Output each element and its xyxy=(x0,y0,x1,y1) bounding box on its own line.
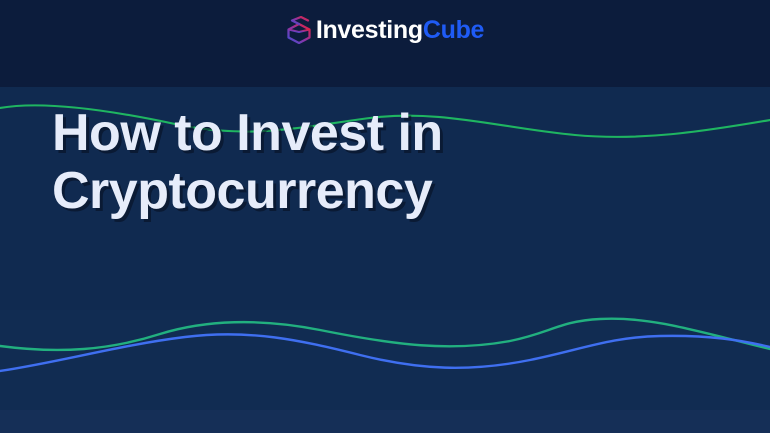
background-band-lower-mid xyxy=(0,310,770,410)
background-band-bottom xyxy=(0,410,770,433)
site-logo-wordmark: InvestingCube xyxy=(316,18,484,43)
logo-word-investing: Investing xyxy=(316,16,423,44)
logo-word-cube: Cube xyxy=(423,16,484,44)
page-title-line-2: Cryptocurrency xyxy=(52,162,443,220)
page-title: How to Invest in Cryptocurrency xyxy=(52,104,443,220)
site-logo-bar: InvestingCube xyxy=(0,0,770,60)
cube-logo-icon xyxy=(286,16,312,44)
article-hero-banner: InvestingCube How to Invest in Cryptocur… xyxy=(0,0,770,433)
site-logo[interactable]: InvestingCube xyxy=(286,16,484,44)
page-title-line-1: How to Invest in xyxy=(52,104,443,162)
